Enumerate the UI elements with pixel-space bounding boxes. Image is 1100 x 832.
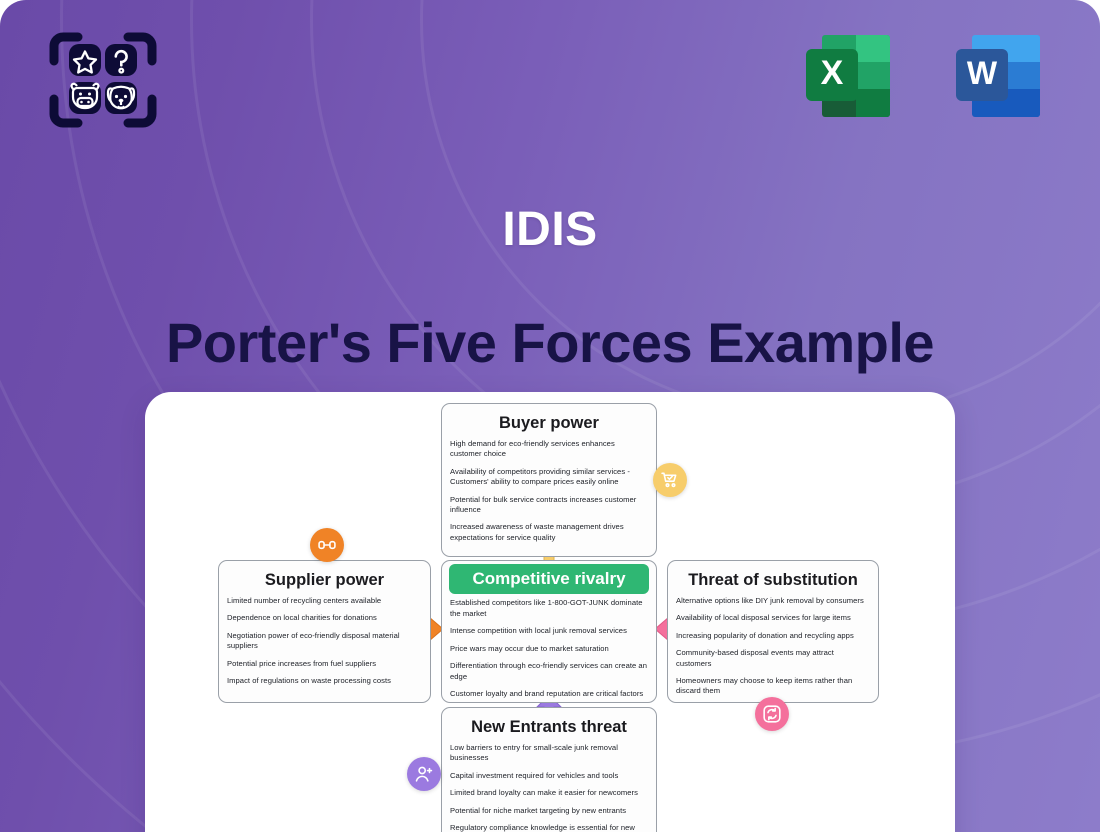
card-new-entrants-threat[interactable]: New Entrants threat Low barriers to entr… <box>441 707 657 832</box>
svg-text:W: W <box>967 55 998 91</box>
card-title: Threat of substitution <box>676 568 870 596</box>
excel-icon[interactable]: X <box>798 27 898 125</box>
office-app-icons: X W <box>798 27 1048 125</box>
list-item: Negotiation power of eco-friendly dispos… <box>227 631 422 652</box>
list-item: Customer loyalty and brand reputation ar… <box>450 689 648 699</box>
list-item: Price wars may occur due to market satur… <box>450 644 648 654</box>
brand-title: IDIS <box>0 206 1100 254</box>
list-item: Differentiation through eco-friendly ser… <box>450 661 648 682</box>
svg-text:X: X <box>821 54 844 92</box>
list-item: Potential for bulk service contracts inc… <box>450 495 648 516</box>
word-icon[interactable]: W <box>948 27 1048 125</box>
card-title: Supplier power <box>227 568 422 596</box>
list-item: High demand for eco-friendly services en… <box>450 439 648 460</box>
list-item: Established competitors like 1-800-GOT-J… <box>450 598 648 619</box>
card-threat-of-substitution[interactable]: Threat of substitution Alternative optio… <box>667 560 879 703</box>
sync-icon[interactable] <box>755 697 789 731</box>
list-item: Potential for niche market targeting by … <box>450 806 648 816</box>
list-item: Limited number of recycling centers avai… <box>227 596 422 606</box>
link-icon[interactable] <box>310 528 344 562</box>
diagram-board: Buyer power High demand for eco-friendly… <box>145 392 955 832</box>
card-title: Competitive rivalry <box>449 564 649 594</box>
card-points-list: Low barriers to entry for small-scale ju… <box>450 743 648 832</box>
card-points-list: Limited number of recycling centers avai… <box>227 596 422 687</box>
list-item: Dependence on local charities for donati… <box>227 613 422 623</box>
card-supplier-power[interactable]: Supplier power Limited number of recycli… <box>218 560 431 703</box>
porters-five-forces-diagram: Buyer power High demand for eco-friendly… <box>145 392 955 832</box>
list-item: Limited brand loyalty can make it easier… <box>450 788 648 798</box>
list-item: Community-based disposal events may attr… <box>676 648 870 669</box>
list-item: Homeowners may choose to keep items rath… <box>676 676 870 697</box>
add-user-icon[interactable] <box>407 757 441 791</box>
list-item: Low barriers to entry for small-scale ju… <box>450 743 648 764</box>
page-root: X W IDIS Porter's Five Forces Example <box>0 0 1100 832</box>
list-item: Availability of local disposal services … <box>676 613 870 623</box>
list-item: Increased awareness of waste management … <box>450 522 648 543</box>
list-item: Impact of regulations on waste processin… <box>227 676 422 686</box>
list-item: Regulatory compliance knowledge is essen… <box>450 823 648 832</box>
list-item: Intense competition with local junk remo… <box>450 626 648 636</box>
list-item: Potential price increases from fuel supp… <box>227 659 422 669</box>
list-item: Capital investment required for vehicles… <box>450 771 648 781</box>
card-buyer-power[interactable]: Buyer power High demand for eco-friendly… <box>441 403 657 557</box>
list-item: Alternative options like DIY junk remova… <box>676 596 870 606</box>
card-title: Buyer power <box>450 411 648 439</box>
cart-icon[interactable] <box>653 463 687 497</box>
page-title: Porter's Five Forces Example <box>0 312 1100 374</box>
card-points-list: Alternative options like DIY junk remova… <box>676 596 870 697</box>
card-competitive-rivalry[interactable]: Competitive rivalry Established competit… <box>441 560 657 703</box>
list-item: Availability of competitors providing si… <box>450 467 648 488</box>
card-points-list: High demand for eco-friendly services en… <box>450 439 648 544</box>
idis-logo-icon[interactable] <box>47 30 159 130</box>
list-item: Increasing popularity of donation and re… <box>676 631 870 641</box>
card-points-list: Established competitors like 1-800-GOT-J… <box>450 598 648 699</box>
card-title: New Entrants threat <box>450 715 648 743</box>
